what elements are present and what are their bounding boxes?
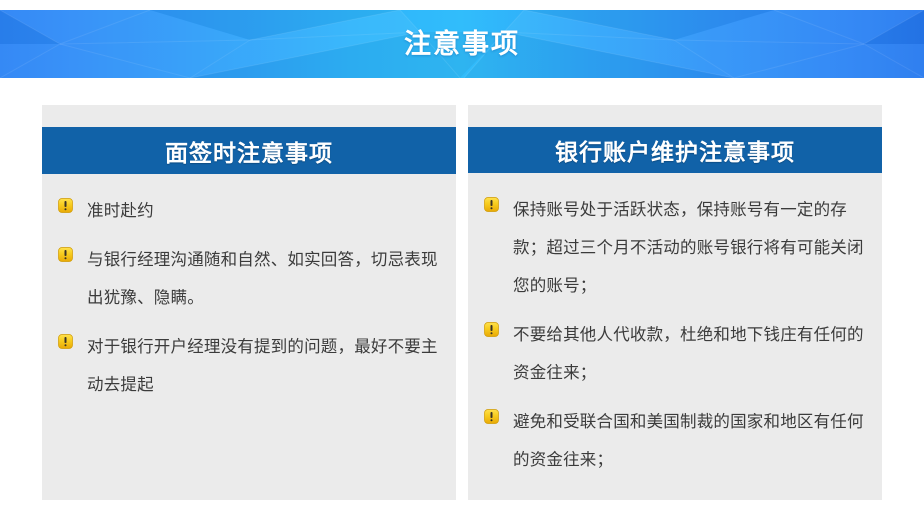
card-header-title: 面签时注意事项 <box>42 127 456 174</box>
list-item-text: 准时赴约 <box>87 192 440 230</box>
warning-exclamation-icon <box>484 409 499 424</box>
warning-exclamation-icon <box>58 198 73 213</box>
list-item-text: 避免和受联合国和美国制裁的国家和地区有任何的资金往来； <box>513 403 866 479</box>
list-item: 保持账号处于活跃状态，保持账号有一定的存款；超过三个月不活动的账号银行将有可能关… <box>484 191 866 305</box>
list-item-text: 保持账号处于活跃状态，保持账号有一定的存款；超过三个月不活动的账号银行将有可能关… <box>513 191 866 305</box>
list-item: 与银行经理沟通随和自然、如实回答，切忌表现出犹豫、隐瞒。 <box>58 241 440 317</box>
page-root: 注意事项 面签时注意事项 <box>0 0 924 531</box>
list-item-text: 对于银行开户经理没有提到的问题，最好不要主动去提起 <box>87 328 440 404</box>
warning-exclamation-icon <box>58 247 73 262</box>
list-item: 对于银行开户经理没有提到的问题，最好不要主动去提起 <box>58 328 440 404</box>
list-item: 不要给其他人代收款，杜绝和地下钱庄有任何的资金往来； <box>484 316 866 392</box>
card-header-title: 银行账户维护注意事项 <box>468 127 882 173</box>
warning-exclamation-icon <box>484 197 499 212</box>
header-banner: 注意事项 <box>0 10 924 78</box>
list-item: 准时赴约 <box>58 192 440 230</box>
card-bank-account-maintenance-notes: 银行账户维护注意事项 保持账号处于活跃状态，保持账号有一定的存款；超过三个月不活… <box>468 105 882 500</box>
card-mianqian-notes: 面签时注意事项 <box>42 105 456 500</box>
list-item-text: 与银行经理沟通随和自然、如实回答，切忌表现出犹豫、隐瞒。 <box>87 241 440 317</box>
warning-exclamation-icon <box>484 322 499 337</box>
cards-container: 面签时注意事项 <box>42 105 882 500</box>
list-item: 避免和受联合国和美国制裁的国家和地区有任何的资金往来； <box>484 403 866 479</box>
card-body: 保持账号处于活跃状态，保持账号有一定的存款；超过三个月不活动的账号银行将有可能关… <box>468 173 882 500</box>
card-body: 准时赴约 与银行经理沟通随和自然、如实回答，切忌表现出犹豫、隐瞒。 <box>42 174 456 500</box>
page-title: 注意事项 <box>0 10 924 78</box>
warning-exclamation-icon <box>58 334 73 349</box>
list-item-text: 不要给其他人代收款，杜绝和地下钱庄有任何的资金往来； <box>513 316 866 392</box>
